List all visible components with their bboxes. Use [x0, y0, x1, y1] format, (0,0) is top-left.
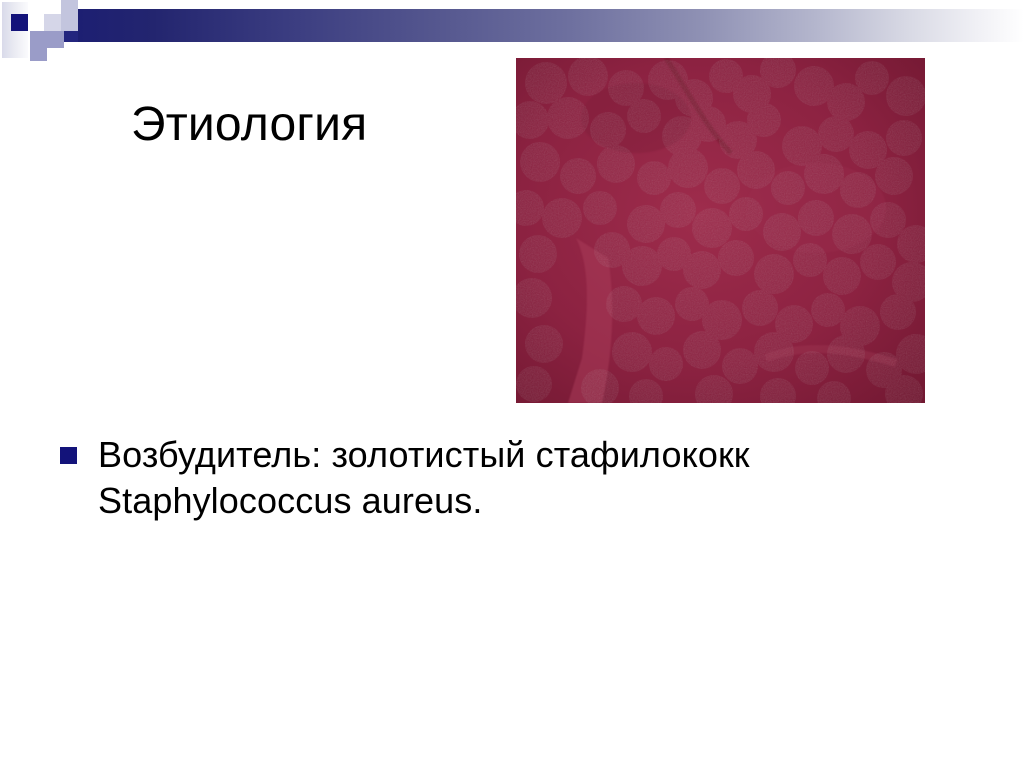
header-gradient-bar: [78, 9, 1024, 42]
bullet-text: Возбудитель: золотистый стафилококк Stap…: [98, 432, 750, 524]
slide-canvas: Этиология: [0, 0, 1024, 767]
micrograph-svg: [516, 58, 925, 403]
staphylococcus-aureus-sem-micrograph: [516, 58, 925, 403]
bullet-line-1: Возбудитель: золотистый стафилококк: [98, 432, 750, 478]
list-item: Возбудитель: золотистый стафилококк Stap…: [60, 432, 960, 524]
header-decoration: [0, 0, 1024, 62]
deco-square-light-1: [61, 14, 78, 31]
square-bullet-icon: [60, 447, 77, 464]
deco-square-mid-1: [30, 31, 47, 48]
body-content: Возбудитель: золотистый стафилококк Stap…: [60, 432, 960, 524]
deco-square-deep-1: [64, 31, 78, 42]
deco-square-pale-1: [44, 14, 61, 31]
deco-square-mid-2: [47, 31, 64, 48]
deco-square-mid-3: [30, 48, 47, 61]
bullet-line-2: Staphylococcus aureus.: [98, 478, 750, 524]
page-title: Этиология: [131, 96, 367, 154]
deco-square-navy: [11, 14, 28, 31]
deco-square-light-top: [61, 0, 78, 14]
